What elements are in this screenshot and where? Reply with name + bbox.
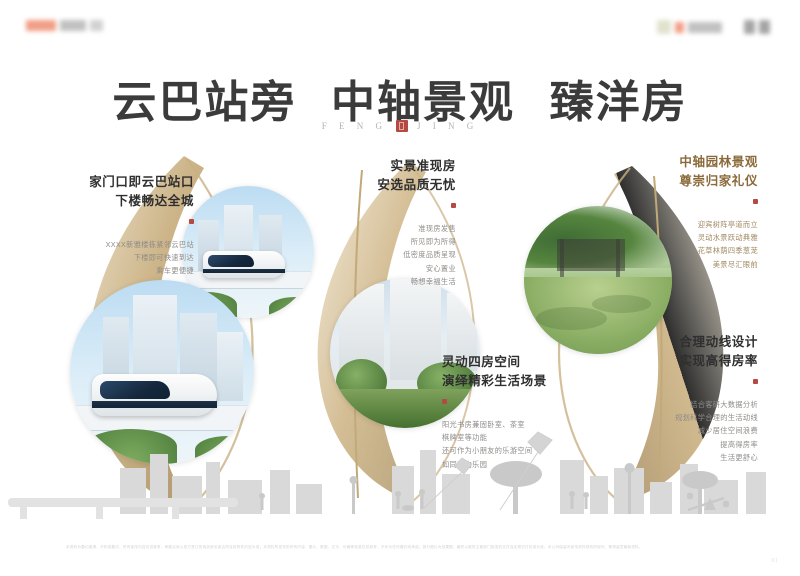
logo-glyph-2 [759, 20, 770, 34]
block-heading-metro: 家门口即云巴站口 下楼畅达全城 [44, 172, 194, 211]
block-heading-layout: 合理动线设计 实现高得房率 [612, 332, 758, 371]
block-heading-four-rooms: 灵动四房空间 演绎精彩生活场景 [442, 352, 602, 391]
text-block-ready-house: 实景准现房 安选品质无忧 准现房发售 所见即为所得 低密度品质呈现 安心置业 畅… [316, 156, 456, 288]
pinyin-right: J I N G [417, 121, 478, 131]
block-heading-garden: 中轴园林景观 尊崇归家礼仪 [614, 152, 758, 191]
block-body-four-rooms: 阳光书房兼固卧室、茶室 棋牌室等功能 还可作为小朋友的乐游空间 如同室内乐园 [442, 418, 602, 471]
logo-badge-red [675, 22, 684, 33]
accent-marker-garden [753, 199, 758, 204]
text-block-layout: 合理动线设计 实现高得房率 结合客研大数据分析 规划科学合理的生活动线 减少居住… [612, 332, 758, 464]
project-logo-redacted [657, 20, 774, 34]
poster-canvas: 云巴站旁 中轴景观 臻洋房 F E N G J I N G [0, 0, 800, 576]
block-body-layout: 结合客研大数据分析 规划科学合理的生活动线 减少居住空间浪费 提高得房率 生活更… [612, 398, 758, 465]
developer-logo-redacted [26, 20, 107, 31]
text-block-four-rooms: 灵动四房空间 演绎精彩生活场景 阳光书房兼固卧室、茶室 棋牌室等功能 还可作为小… [442, 352, 602, 471]
block-body-ready-house: 准现房发售 所见即为所得 低密度品质呈现 安心置业 畅想幸福生活 [316, 222, 456, 289]
logo-badge-olive [657, 20, 671, 34]
accent-marker-ready-house [451, 203, 456, 208]
accent-marker-four-rooms [442, 399, 447, 404]
photo-train-large [70, 280, 254, 464]
pinyin-subtitle: F E N G J I N G [0, 120, 800, 132]
block-body-garden: 迎宾树阵亭道而立 灵动水景跃动典雅 花草林荫四季葱茏 美景尽汇眼前 [614, 218, 758, 271]
block-body-metro: XXXX新雅楼栋紧邻云巴站 下楼即可快速到达 乘车更便捷 [44, 238, 194, 278]
accent-marker-layout [753, 379, 758, 384]
logo-badge-gray [688, 22, 722, 33]
logo-mark-gray [60, 20, 86, 31]
page-number: 01 [771, 558, 778, 564]
block-heading-ready-house: 实景准现房 安选品质无忧 [316, 156, 456, 195]
red-seal-icon [396, 120, 408, 132]
accent-marker-metro [189, 219, 194, 224]
text-block-metro: 家门口即云巴站口 下楼畅达全城 XXXX新雅楼栋紧邻云巴站 下楼即可快速到达 乘… [44, 172, 194, 278]
logo-mark-red [26, 20, 56, 31]
legal-disclaimer: 本资料为要约邀请，不构成要约，所有宣传内容仅供参考，房屋买卖以双方签订的商品房买… [66, 545, 760, 550]
logo-mark-gray-2 [90, 20, 103, 31]
logo-glyph-1 [744, 20, 755, 34]
pinyin-left: F E N G [322, 121, 387, 131]
text-block-garden: 中轴园林景观 尊崇归家礼仪 迎宾树阵亭道而立 灵动水景跃动典雅 花草林荫四季葱茏… [614, 152, 758, 271]
